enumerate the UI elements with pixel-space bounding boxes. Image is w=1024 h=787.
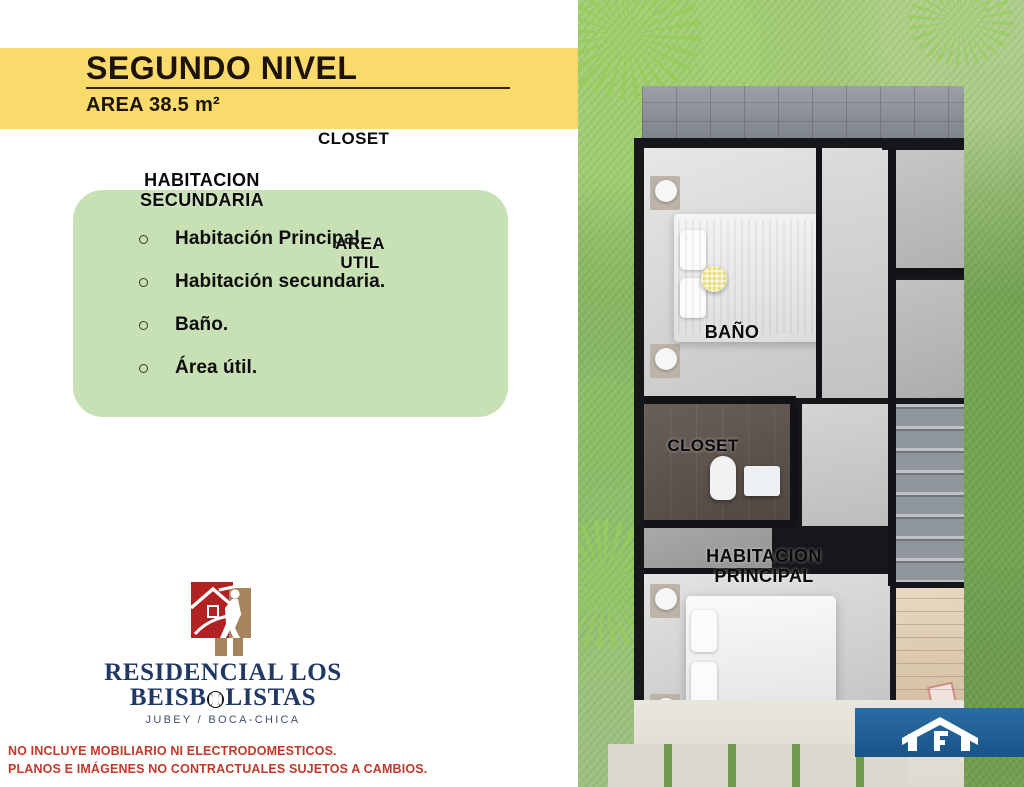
feature-label: Baño. (175, 314, 228, 336)
wall-partition (816, 148, 822, 398)
brand-name-prefix: BEISB (130, 685, 207, 710)
house-baseball-batter-icon (189, 580, 257, 658)
label-line-2: SECUNDARIA (140, 190, 264, 210)
disclaimer: NO INCLUYE MOBILIARIO NI ELECTRODOMESTIC… (8, 742, 427, 778)
wall-partition (888, 148, 896, 400)
brand-logo: RESIDENCIAL LOS BEISB LISTAS JUBEY / BOC… (78, 580, 368, 726)
round-stool (701, 266, 727, 292)
staircase (896, 404, 964, 582)
lamp (655, 588, 677, 610)
room-label-closet-top: CLOSET (318, 129, 428, 148)
room-label-bathroom: BAÑO (672, 322, 792, 342)
brand-name-suffix: LISTAS (225, 685, 316, 710)
pillow (691, 662, 717, 704)
pillow (680, 230, 706, 270)
room-label-master-bedroom: HABITACION PRINCIPAL (684, 546, 844, 586)
developer-badge (855, 708, 1024, 757)
room-area-util (896, 280, 964, 398)
area-label: AREA 38.5 m² (86, 94, 578, 117)
wall-partition (888, 400, 896, 586)
wall-partition (890, 268, 964, 276)
landing-hallway (820, 150, 890, 398)
toilet-fixture (710, 456, 736, 500)
label-line-1: HABITACION (144, 170, 260, 190)
circle-outline-icon (139, 364, 148, 373)
pillow (691, 610, 717, 652)
page-title: SEGUNDO NIVEL (86, 48, 578, 86)
disclaimer-line-2: PLANOS E IMÁGENES NO CONTRACTUALES SUJET… (8, 760, 427, 778)
floorplan-render (578, 0, 1024, 787)
list-item: Habitación secundaria. (73, 271, 508, 293)
wall-partition (644, 520, 796, 528)
list-item: Habitación Principal. (73, 228, 508, 250)
wall-partition (790, 404, 798, 522)
wall-partition (644, 396, 796, 404)
disclaimer-line-1: NO INCLUYE MOBILIARIO NI ELECTRODOMESTIC… (8, 742, 427, 760)
brand-name-line2: BEISB LISTAS (78, 685, 368, 710)
room-bathroom (644, 404, 796, 522)
wall-shell (634, 138, 964, 700)
features-box: Habitación Principal. Habitación secunda… (73, 190, 508, 417)
label-line-2: PRINCIPAL (714, 566, 813, 586)
room-closet-top (896, 150, 964, 272)
title-banner: SEGUNDO NIVEL AREA 38.5 m² (0, 48, 578, 129)
lamp (655, 348, 677, 370)
list-item: Baño. (73, 314, 508, 336)
house-roof-f-icon (898, 714, 982, 752)
circle-outline-icon (139, 235, 148, 244)
title-underline (86, 87, 510, 89)
feature-label: Área útil. (175, 357, 257, 379)
lamp (655, 180, 677, 202)
brand-name-line1: RESIDENCIAL LOS (78, 660, 368, 685)
circle-outline-icon (139, 321, 148, 330)
corridor (802, 404, 890, 526)
brand-tagline: JUBEY / BOCA-CHICA (78, 714, 368, 726)
roof-strip (642, 86, 964, 141)
floorplan-page: SEGUNDO NIVEL AREA 38.5 m² Habitación Pr… (0, 0, 1024, 787)
room-label-secondary-bedroom: HABITACION SECUNDARIA (107, 170, 297, 210)
feature-label: Habitación secundaria. (175, 271, 385, 293)
house-footprint (634, 86, 964, 700)
label-line-2: UTIL (340, 253, 379, 272)
list-item: Área útil. (73, 357, 508, 379)
label-line-1: AREA (335, 234, 385, 253)
room-label-area-util: AREA UTIL (322, 234, 398, 272)
label-line-1: HABITACION (706, 546, 822, 566)
sink-fixture (744, 466, 780, 496)
info-panel: SEGUNDO NIVEL AREA 38.5 m² Habitación Pr… (0, 0, 578, 787)
circle-outline-icon (139, 278, 148, 287)
features-list: Habitación Principal. Habitación secunda… (73, 228, 508, 379)
room-label-closet-bottom: CLOSET (643, 436, 763, 455)
baseball-icon (207, 691, 224, 708)
